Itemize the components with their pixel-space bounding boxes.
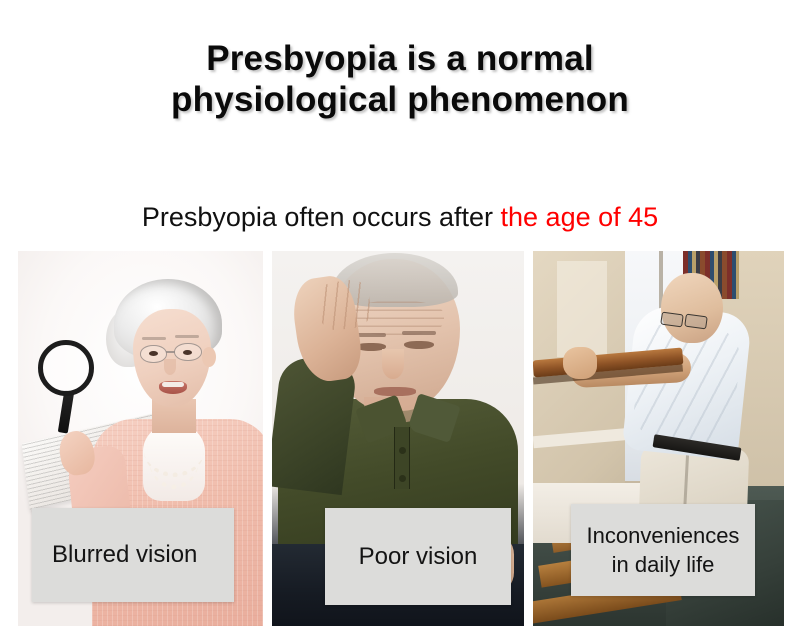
caption-blurred-vision: Blurred vision <box>32 508 234 602</box>
subtitle-accent: the age of 45 <box>501 202 659 232</box>
shirt-button-top <box>399 447 406 454</box>
title-line-1: Presbyopia is a normal <box>0 38 800 79</box>
magnifying-glass-icon <box>38 340 94 396</box>
caption-label-line-1: Inconveniences <box>587 521 740 550</box>
caption-poor-vision: Poor vision <box>325 508 511 605</box>
title-line-2: physiological phenomenon <box>0 79 800 120</box>
ear <box>202 347 216 367</box>
caption-label: Blurred vision <box>52 541 197 569</box>
teeth <box>162 382 184 387</box>
panel-poor-vision[interactable]: Poor vision <box>272 251 524 626</box>
head <box>661 273 723 343</box>
nose <box>164 359 176 375</box>
panel-inconveniences[interactable]: Inconveniences in daily life <box>533 251 784 626</box>
eyebrow-right <box>175 335 199 338</box>
eye-right-closed <box>404 341 434 349</box>
caption-label: Poor vision <box>359 543 478 571</box>
panel-blurred-vision[interactable]: Blurred vision <box>18 251 263 626</box>
pearl-necklace-inner <box>149 429 199 489</box>
nose <box>382 349 404 379</box>
eyeglass-bridge <box>166 351 175 353</box>
eye-left <box>149 351 158 356</box>
eyebrow-left <box>142 337 166 340</box>
subtitle-prefix: Presbyopia often occurs after <box>142 202 501 232</box>
wall-panel <box>557 261 607 357</box>
panel-row: Blurred vision <box>18 251 784 626</box>
caption-label-line-2: in daily life <box>612 550 715 579</box>
hand-gripping-rail <box>563 347 597 379</box>
caption-inconveniences: Inconveniences in daily life <box>571 504 755 596</box>
slide-title: Presbyopia is a normal physiological phe… <box>0 38 800 121</box>
eyebrow-right <box>402 331 436 335</box>
eye-right <box>183 350 192 355</box>
shirt-button-bottom <box>399 475 406 482</box>
slide-subtitle: Presbyopia often occurs after the age of… <box>0 202 800 233</box>
presbyopia-slide: Presbyopia is a normal physiological phe… <box>0 0 800 638</box>
